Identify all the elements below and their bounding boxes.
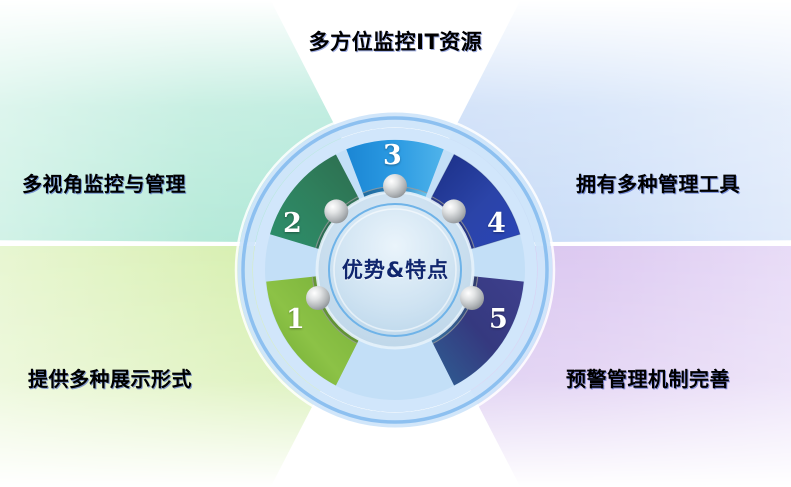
marker-ball-3[interactable]: [383, 174, 407, 198]
wheel-diagram: [0, 0, 791, 487]
diagram-title: 多方位监控IT资源: [0, 26, 791, 56]
segment-number-5: 5: [489, 306, 508, 333]
marker-ball-2[interactable]: [324, 199, 348, 223]
infographic-canvas: 1 2 3 4 5 优势&特点 多方位监控IT资源 多视角监控与管理 提供多种展…: [0, 0, 791, 487]
segment-number-2: 2: [283, 210, 302, 237]
marker-ball-1[interactable]: [306, 286, 330, 310]
segment-number-3: 3: [383, 142, 402, 169]
segment-number-1: 1: [286, 306, 305, 333]
marker-ball-4[interactable]: [442, 199, 466, 223]
label-bottom-right: 预警管理机制完善: [566, 363, 730, 392]
label-top-left: 多视角监控与管理: [22, 168, 186, 197]
label-bottom-left: 提供多种展示形式: [28, 363, 192, 392]
label-top-right: 拥有多种管理工具: [576, 168, 740, 197]
marker-ball-5[interactable]: [460, 286, 484, 310]
segment-number-4: 4: [487, 210, 506, 237]
